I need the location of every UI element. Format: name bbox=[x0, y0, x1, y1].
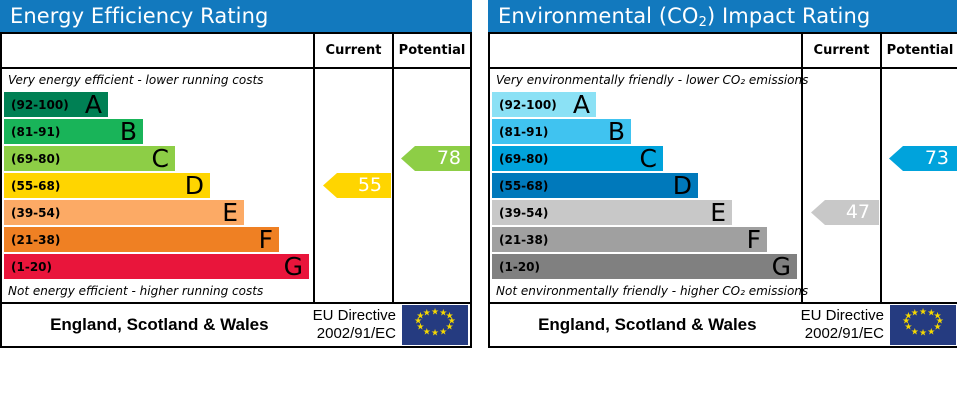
header-spacer-cell bbox=[2, 34, 313, 67]
potential-slot-c: 78 bbox=[394, 145, 470, 172]
band-range-b: (81-91) bbox=[499, 125, 548, 139]
potential-slot-g bbox=[394, 253, 470, 280]
band-range-c: (69-80) bbox=[499, 152, 548, 166]
caption-top-current-cell bbox=[313, 69, 392, 91]
caption-bottom-row: Not energy efficient - higher running co… bbox=[2, 280, 470, 302]
footer-directive-label: EU Directive 2002/91/EC bbox=[801, 307, 890, 343]
potential-rating-arrow: 78 bbox=[401, 146, 470, 171]
band-range-c: (69-80) bbox=[11, 152, 60, 166]
band-letter-b: B bbox=[120, 119, 137, 144]
chart-footer-energy: England, Scotland & Wales EU Directive 2… bbox=[2, 302, 470, 346]
band-row-e: (39-54) E bbox=[490, 199, 801, 226]
current-slot-d: 55 bbox=[315, 172, 392, 199]
potential-column: 78 bbox=[392, 91, 470, 280]
header-potential-cell: Potential bbox=[392, 34, 470, 67]
caption-top-current-cell bbox=[801, 69, 880, 91]
current-slot-e bbox=[315, 199, 392, 226]
current-slot-c bbox=[803, 145, 880, 172]
footer-directive-line1: EU Directive bbox=[801, 307, 884, 325]
eu-flag-icon: ★ ★ ★ ★ ★ ★ ★ ★ ★ ★ ★ ★ bbox=[402, 305, 468, 345]
header-current-cell: Current bbox=[801, 34, 880, 67]
band-bar-e: (39-54) E bbox=[4, 200, 244, 225]
band-range-d: (55-68) bbox=[499, 179, 548, 193]
header-current-cell: Current bbox=[313, 34, 392, 67]
band-bar-a: (92-100) A bbox=[4, 92, 108, 117]
caption-top-potential-cell bbox=[392, 69, 470, 91]
bands-block: (92-100) A (81-91) B (69-80) C bbox=[490, 91, 957, 280]
chart-title-co2-suffix: ) Impact Rating bbox=[707, 4, 870, 28]
band-row-g: (1-20) G bbox=[2, 253, 313, 280]
bands-column: (92-100) A (81-91) B (69-80) C bbox=[490, 91, 801, 280]
current-slot-c bbox=[315, 145, 392, 172]
chart-gap bbox=[472, 0, 488, 1]
band-row-a: (92-100) A bbox=[490, 91, 801, 118]
band-bar-d: (55-68) D bbox=[492, 173, 698, 198]
band-letter-d: D bbox=[673, 173, 692, 198]
band-row-c: (69-80) C bbox=[490, 145, 801, 172]
current-slot-g bbox=[803, 253, 880, 280]
caption-bottom-cell: Not environmentally friendly - higher CO… bbox=[490, 280, 801, 302]
footer-directive-label: EU Directive 2002/91/EC bbox=[313, 307, 402, 343]
band-bar-g: (1-20) G bbox=[492, 254, 797, 279]
potential-slot-e bbox=[394, 199, 470, 226]
potential-rating-value: 78 bbox=[437, 149, 461, 168]
band-bar-e: (39-54) E bbox=[492, 200, 732, 225]
potential-slot-e bbox=[882, 199, 957, 226]
potential-slot-b bbox=[394, 118, 470, 145]
band-range-a: (92-100) bbox=[499, 98, 557, 112]
chart-title-co2-subscript: 2 bbox=[699, 15, 707, 30]
current-slot-b bbox=[315, 118, 392, 145]
band-range-e: (39-54) bbox=[499, 206, 548, 220]
band-bar-b: (81-91) B bbox=[492, 119, 631, 144]
footer-country-label: England, Scotland & Wales bbox=[2, 315, 313, 335]
potential-slot-c: 73 bbox=[882, 145, 957, 172]
band-range-f: (21-38) bbox=[499, 233, 548, 247]
eu-flag-icon: ★ ★ ★ ★ ★ ★ ★ ★ ★ ★ ★ ★ bbox=[890, 305, 956, 345]
potential-slot-d bbox=[394, 172, 470, 199]
band-bar-g: (1-20) G bbox=[4, 254, 309, 279]
band-letter-e: E bbox=[710, 200, 726, 225]
potential-rating-arrow: 73 bbox=[889, 146, 957, 171]
energy-efficiency-rating-chart: Energy Efficiency Rating Current Potenti… bbox=[0, 0, 472, 348]
band-range-e: (39-54) bbox=[11, 206, 60, 220]
band-bar-f: (21-38) F bbox=[4, 227, 279, 252]
band-bar-f: (21-38) F bbox=[492, 227, 767, 252]
band-bar-a: (92-100) A bbox=[492, 92, 596, 117]
caption-top-row: Very energy efficient - lower running co… bbox=[2, 69, 470, 91]
caption-top-cell: Very energy efficient - lower running co… bbox=[2, 69, 313, 91]
caption-bottom-current-cell bbox=[313, 280, 392, 302]
co2-rating-table: Current Potential Very environmentally f… bbox=[488, 32, 957, 348]
footer-country-label: England, Scotland & Wales bbox=[490, 315, 801, 335]
caption-bottom-current-cell bbox=[801, 280, 880, 302]
footer-directive-line1: EU Directive bbox=[313, 307, 396, 325]
chart-title-co2: Environmental (CO2) Impact Rating bbox=[488, 0, 957, 32]
current-rating-arrow: 55 bbox=[323, 173, 391, 198]
caption-not-friendly: Not environmentally friendly - higher CO… bbox=[490, 280, 801, 302]
epc-charts-container: Energy Efficiency Rating Current Potenti… bbox=[0, 0, 957, 404]
potential-column: 73 bbox=[880, 91, 957, 280]
band-row-e: (39-54) E bbox=[2, 199, 313, 226]
band-letter-a: A bbox=[573, 92, 590, 117]
current-slot-f bbox=[803, 226, 880, 253]
band-range-d: (55-68) bbox=[11, 179, 60, 193]
caption-top-row: Very environmentally friendly - lower CO… bbox=[490, 69, 957, 91]
current-slot-e: 47 bbox=[803, 199, 880, 226]
band-bar-d: (55-68) D bbox=[4, 173, 210, 198]
band-range-g: (1-20) bbox=[499, 260, 540, 274]
environmental-co2-impact-rating-chart: Environmental (CO2) Impact Rating Curren… bbox=[488, 0, 957, 348]
potential-slot-a bbox=[394, 91, 470, 118]
header-spacer-cell bbox=[490, 34, 801, 67]
band-row-a: (92-100) A bbox=[2, 91, 313, 118]
potential-slot-d bbox=[882, 172, 957, 199]
column-header-current: Current bbox=[326, 43, 382, 58]
band-row-f: (21-38) F bbox=[490, 226, 801, 253]
current-rating-arrow: 47 bbox=[811, 200, 879, 225]
band-row-c: (69-80) C bbox=[2, 145, 313, 172]
band-letter-e: E bbox=[222, 200, 238, 225]
band-letter-g: G bbox=[284, 254, 303, 279]
column-header-potential: Potential bbox=[887, 43, 954, 58]
potential-slot-a bbox=[882, 91, 957, 118]
band-letter-d: D bbox=[185, 173, 204, 198]
bands-block: (92-100) A (81-91) B (69-80) C bbox=[2, 91, 470, 280]
chart-footer-co2: England, Scotland & Wales EU Directive 2… bbox=[490, 302, 957, 346]
caption-bottom-potential-cell bbox=[392, 280, 470, 302]
band-bar-b: (81-91) B bbox=[4, 119, 143, 144]
band-row-g: (1-20) G bbox=[490, 253, 801, 280]
caption-bottom-cell: Not energy efficient - higher running co… bbox=[2, 280, 313, 302]
caption-very-friendly: Very environmentally friendly - lower CO… bbox=[490, 69, 801, 91]
table-header-row: Current Potential bbox=[2, 34, 470, 69]
table-header-row: Current Potential bbox=[490, 34, 957, 69]
current-slot-b bbox=[803, 118, 880, 145]
column-header-current: Current bbox=[814, 43, 870, 58]
band-letter-g: G bbox=[772, 254, 791, 279]
band-row-d: (55-68) D bbox=[2, 172, 313, 199]
band-row-b: (81-91) B bbox=[490, 118, 801, 145]
current-slot-f bbox=[315, 226, 392, 253]
band-letter-c: C bbox=[640, 146, 657, 171]
caption-bottom-potential-cell bbox=[880, 280, 957, 302]
current-rating-value: 55 bbox=[358, 176, 382, 195]
current-slot-d bbox=[803, 172, 880, 199]
band-row-d: (55-68) D bbox=[490, 172, 801, 199]
potential-slot-f bbox=[882, 226, 957, 253]
band-range-a: (92-100) bbox=[11, 98, 69, 112]
chart-title-co2-prefix: Environmental (CO bbox=[498, 4, 699, 28]
bands-column: (92-100) A (81-91) B (69-80) C bbox=[2, 91, 313, 280]
band-range-g: (1-20) bbox=[11, 260, 52, 274]
band-letter-c: C bbox=[152, 146, 169, 171]
potential-slot-g bbox=[882, 253, 957, 280]
band-letter-a: A bbox=[85, 92, 102, 117]
current-slot-a bbox=[803, 91, 880, 118]
energy-rating-table: Current Potential Very energy efficient … bbox=[0, 32, 472, 348]
current-column: 55 bbox=[313, 91, 392, 280]
potential-slot-b bbox=[882, 118, 957, 145]
caption-bottom-row: Not environmentally friendly - higher CO… bbox=[490, 280, 957, 302]
current-column: 47 bbox=[801, 91, 880, 280]
chart-title-energy: Energy Efficiency Rating bbox=[0, 0, 472, 32]
band-bar-c: (69-80) C bbox=[492, 146, 663, 171]
caption-top-cell: Very environmentally friendly - lower CO… bbox=[490, 69, 801, 91]
potential-rating-value: 73 bbox=[925, 149, 949, 168]
band-row-b: (81-91) B bbox=[2, 118, 313, 145]
band-letter-f: F bbox=[747, 227, 761, 252]
footer-directive-line2: 2002/91/EC bbox=[801, 325, 884, 343]
band-range-b: (81-91) bbox=[11, 125, 60, 139]
current-slot-a bbox=[315, 91, 392, 118]
band-row-f: (21-38) F bbox=[2, 226, 313, 253]
caption-not-efficient: Not energy efficient - higher running co… bbox=[2, 280, 313, 302]
column-header-potential: Potential bbox=[399, 43, 466, 58]
band-bar-c: (69-80) C bbox=[4, 146, 175, 171]
caption-top-potential-cell bbox=[880, 69, 957, 91]
potential-slot-f bbox=[394, 226, 470, 253]
caption-very-efficient: Very energy efficient - lower running co… bbox=[2, 69, 313, 91]
current-rating-value: 47 bbox=[846, 203, 870, 222]
band-letter-b: B bbox=[608, 119, 625, 144]
band-letter-f: F bbox=[259, 227, 273, 252]
current-slot-g bbox=[315, 253, 392, 280]
header-potential-cell: Potential bbox=[880, 34, 957, 67]
band-range-f: (21-38) bbox=[11, 233, 60, 247]
footer-directive-line2: 2002/91/EC bbox=[313, 325, 396, 343]
